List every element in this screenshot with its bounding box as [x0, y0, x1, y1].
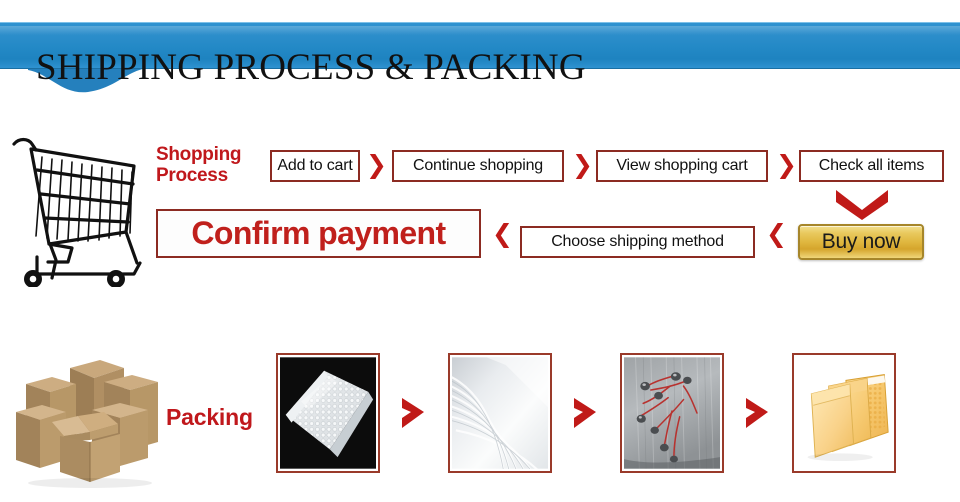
packing-arrow-2	[570, 396, 604, 430]
cardboard-boxes-icon	[8, 340, 168, 488]
step-choose-shipping-method[interactable]: Choose shipping method	[520, 226, 755, 258]
packing-arrow-1	[398, 396, 432, 430]
buy-now-button[interactable]: Buy now	[798, 224, 924, 260]
header-banner: SHIPPING PROCESS & PACKING	[0, 22, 960, 90]
step-confirm-payment[interactable]: Confirm payment	[156, 209, 481, 258]
shopping-process-label-line1: Shopping	[156, 144, 241, 165]
flow-arrow-right-2: ❯	[572, 152, 593, 177]
step-confirm-payment-label: Confirm payment	[191, 215, 445, 252]
shopping-process-label: Shopping Process	[156, 144, 268, 186]
flow-arrow-left-1: ❮	[492, 221, 513, 246]
packing-item-antistatic-bag	[620, 353, 724, 473]
page-title: SHIPPING PROCESS & PACKING	[36, 46, 586, 90]
packing-item-padded-mailers	[792, 353, 896, 473]
packing-item-foam-sheet	[448, 353, 552, 473]
step-add-to-cart[interactable]: Add to cart	[270, 150, 360, 182]
flow-arrow-right-1: ❯	[366, 152, 387, 177]
packing-item-bubble-wrap	[276, 353, 380, 473]
shopping-cart-icon	[4, 132, 150, 287]
flow-arrow-right-3: ❯	[776, 152, 797, 177]
flow-arrow-left-2: ❮	[766, 221, 787, 246]
step-check-all-items[interactable]: Check all items	[799, 150, 944, 182]
packing-arrow-3	[742, 396, 776, 430]
shopping-process-label-line2: Process	[156, 165, 228, 186]
step-view-shopping-cart[interactable]: View shopping cart	[596, 150, 768, 182]
packing-label: Packing	[166, 404, 253, 431]
chevron-down-icon	[834, 188, 890, 220]
step-continue-shopping[interactable]: Continue shopping	[392, 150, 564, 182]
